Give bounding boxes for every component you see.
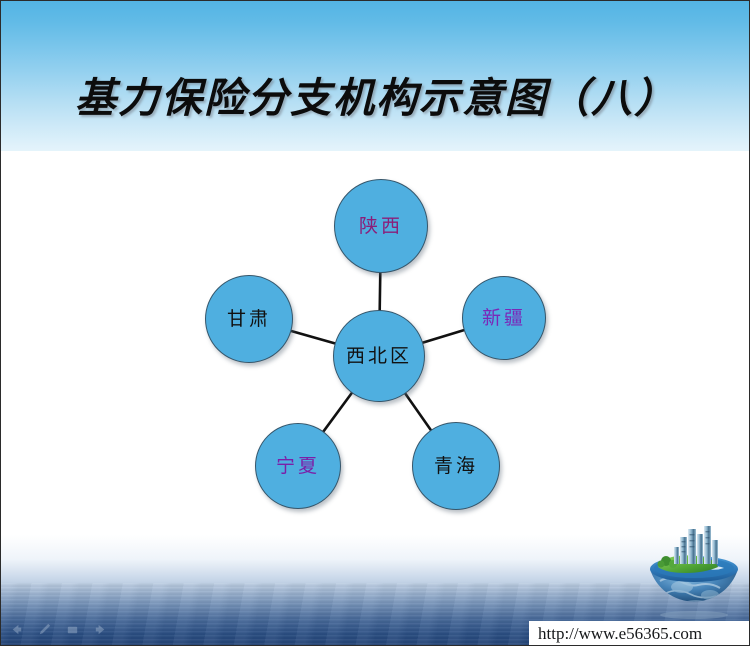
diagram-node-ningxia[interactable]: 宁夏 bbox=[255, 423, 341, 509]
diagram-node-label-shaanxi: 陕西 bbox=[359, 217, 403, 236]
diagram-node-gansu[interactable]: 甘肃 bbox=[205, 275, 293, 363]
page-title: 基力保险分支机构示意图（八） bbox=[1, 64, 750, 124]
diagram-node-label-center: 西北区 bbox=[346, 347, 412, 366]
diagram-node-center[interactable]: 西北区 bbox=[333, 310, 425, 402]
slide-canvas: 基力保险分支机构示意图（八） 西北区陕西新疆青海宁夏甘肃 bbox=[0, 0, 750, 646]
diagram-node-xinjiang[interactable]: 新疆 bbox=[462, 276, 546, 360]
url-watermark: http://www.e56365.com bbox=[529, 621, 750, 646]
diagram-node-shaanxi[interactable]: 陕西 bbox=[334, 179, 428, 273]
diagram-node-label-ningxia: 宁夏 bbox=[276, 457, 320, 476]
forward-arrow-icon[interactable] bbox=[93, 622, 108, 637]
diagram-node-label-qinghai: 青海 bbox=[434, 457, 478, 476]
diagram-node-qinghai[interactable]: 青海 bbox=[412, 422, 500, 510]
pen-icon[interactable] bbox=[37, 622, 52, 637]
note-icon[interactable] bbox=[65, 622, 80, 637]
watermark-url-text: http://www.e56365.com bbox=[538, 624, 702, 644]
globe-city-logo bbox=[642, 523, 746, 619]
globe-city-icon bbox=[642, 523, 746, 619]
bottom-nav-icons bbox=[9, 622, 108, 637]
diagram-node-label-gansu: 甘肃 bbox=[227, 310, 271, 329]
diagram-node-label-xinjiang: 新疆 bbox=[482, 309, 526, 328]
back-arrow-icon[interactable] bbox=[9, 622, 24, 637]
